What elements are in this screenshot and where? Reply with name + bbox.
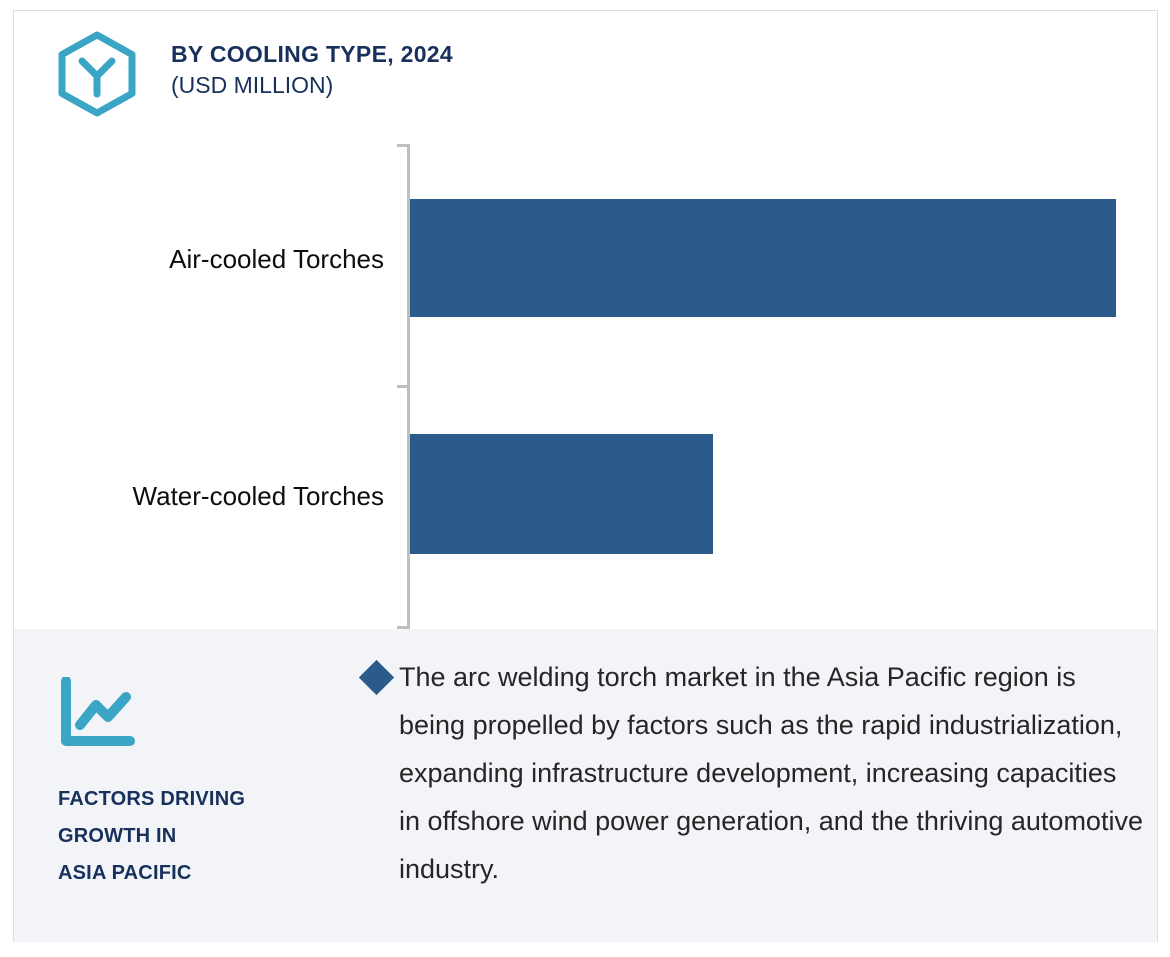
axis-tick-middle bbox=[397, 385, 410, 388]
insight-bullet-item: The arc welding torch market in the Asia… bbox=[364, 653, 1144, 893]
category-label-air-cooled: Air-cooled Torches bbox=[169, 246, 384, 272]
axis-tick-top bbox=[397, 144, 410, 147]
insight-panel: FACTORS DRIVING GROWTH IN ASIA PACIFIC T… bbox=[14, 629, 1157, 942]
insight-heading-line-1: FACTORS DRIVING bbox=[58, 781, 358, 818]
bar-chart: Air-cooled Torches Water-cooled Torches bbox=[14, 11, 1159, 629]
insight-heading: FACTORS DRIVING GROWTH IN ASIA PACIFIC bbox=[58, 781, 358, 892]
line-chart-icon bbox=[58, 677, 136, 749]
diamond-bullet-icon bbox=[359, 660, 394, 695]
insight-body-text: The arc welding torch market in the Asia… bbox=[399, 653, 1144, 893]
infographic-card: BY COOLING TYPE, 2024 (USD MILLION) Air-… bbox=[13, 10, 1158, 942]
bar-air-cooled-torches bbox=[410, 199, 1116, 317]
insight-heading-line-2: GROWTH IN bbox=[58, 818, 358, 855]
bar-water-cooled-torches bbox=[410, 434, 713, 554]
category-label-water-cooled: Water-cooled Torches bbox=[133, 483, 384, 509]
insight-heading-line-3: ASIA PACIFIC bbox=[58, 855, 358, 892]
